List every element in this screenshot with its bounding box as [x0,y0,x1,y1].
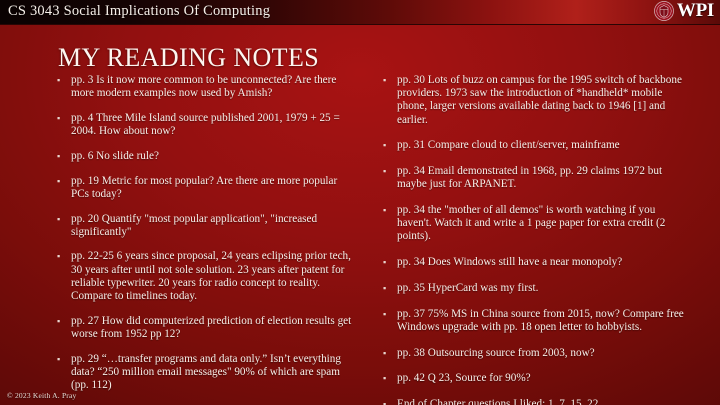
bullet-icon: ▪ [382,372,397,385]
bullet-icon: ▪ [56,353,71,366]
list-item-text: pp. 19 Metric for most popular? Are ther… [71,175,352,201]
page-title: MY READING NOTES [58,43,319,73]
slide-body: ▪ pp. 3 Is it now more common to be unco… [0,74,720,379]
list-item-text: pp. 27 How did computerized prediction o… [71,315,352,341]
bullet-icon: ▪ [382,308,397,321]
bullet-icon: ▪ [382,398,397,405]
bullet-icon: ▪ [382,165,397,178]
list-item: ▪ pp. 34 Email demonstrated in 1968, pp.… [382,165,686,191]
bullet-icon: ▪ [382,282,397,295]
list-item-text: pp. 30 Lots of buzz on campus for the 19… [397,74,686,127]
bullet-icon: ▪ [56,112,71,125]
list-item-text: pp. 31 Compare cloud to client/server, m… [397,139,686,152]
bullet-icon: ▪ [56,150,71,163]
list-item: ▪ pp. 31 Compare cloud to client/server,… [382,139,686,152]
list-item: ▪ pp. 30 Lots of buzz on campus for the … [382,74,686,127]
list-item: ▪ pp. 6 No slide rule? [56,150,352,163]
list-item-text: pp. 37 75% MS in China source from 2015,… [397,308,686,334]
list-item: ▪ pp. 22-25 6 years since proposal, 24 y… [56,250,352,303]
course-title: CS 3043 Social Implications Of Computing [8,3,270,20]
list-item-text: pp. 4 Three Mile Island source published… [71,112,352,138]
bullet-icon: ▪ [382,256,397,269]
wpi-logo-text: WPI [677,1,714,21]
wpi-logo: WPI [654,1,714,21]
list-item: ▪ pp. 27 How did computerized prediction… [56,315,352,341]
list-item: ▪ End of Chapter questions I liked: 1, 7… [382,398,686,405]
list-item: ▪ pp. 3 Is it now more common to be unco… [56,74,352,100]
bullet-icon: ▪ [382,74,397,87]
slide-header-banner: CS 3043 Social Implications Of Computing… [0,0,720,25]
list-item-text: pp. 34 Email demonstrated in 1968, pp. 2… [397,165,686,191]
presentation-slide: CS 3043 Social Implications Of Computing… [0,0,720,405]
bullet-icon: ▪ [56,74,71,87]
list-item: ▪ pp. 4 Three Mile Island source publish… [56,112,352,138]
list-item-text: pp. 6 No slide rule? [71,150,352,163]
list-item-text: pp. 29 “…transfer programs and data only… [71,353,352,393]
bullet-icon: ▪ [382,204,397,217]
list-item: ▪ pp. 35 HyperCard was my first. [382,282,686,295]
right-notes-column: ▪ pp. 30 Lots of buzz on campus for the … [362,74,720,379]
list-item: ▪ pp. 19 Metric for most popular? Are th… [56,175,352,201]
list-item-text: pp. 22-25 6 years since proposal, 24 yea… [71,250,352,303]
bullet-icon: ▪ [56,213,71,226]
list-item: ▪ pp. 20 Quantify "most popular applicat… [56,213,352,239]
list-item-text: pp. 42 Q 23, Source for 90%? [397,372,686,385]
list-item: ▪ pp. 42 Q 23, Source for 90%? [382,372,686,385]
list-item-text: pp. 35 HyperCard was my first. [397,282,686,295]
copyright-footer: © 2023 Keith A. Pray [7,391,77,400]
bullet-icon: ▪ [382,139,397,152]
list-item: ▪ pp. 38 Outsourcing source from 2003, n… [382,347,686,360]
list-item: ▪ pp. 29 “…transfer programs and data on… [56,353,352,393]
list-item-text: pp. 20 Quantify "most popular applicatio… [71,213,352,239]
list-item-text: pp. 34 the "mother of all demos" is wort… [397,204,686,244]
left-notes-column: ▪ pp. 3 Is it now more common to be unco… [0,74,362,379]
wpi-seal-icon [654,1,674,21]
list-item: ▪ pp. 37 75% MS in China source from 201… [382,308,686,334]
bullet-icon: ▪ [56,315,71,328]
list-item-text: pp. 34 Does Windows still have a near mo… [397,256,686,269]
bullet-icon: ▪ [56,175,71,188]
list-item: ▪ pp. 34 Does Windows still have a near … [382,256,686,269]
list-item-text: pp. 38 Outsourcing source from 2003, now… [397,347,686,360]
list-item-text: End of Chapter questions I liked: 1, 7, … [397,398,686,405]
bullet-icon: ▪ [382,347,397,360]
list-item: ▪ pp. 34 the "mother of all demos" is wo… [382,204,686,244]
bullet-icon: ▪ [56,250,71,263]
list-item-text: pp. 3 Is it now more common to be unconn… [71,74,352,100]
